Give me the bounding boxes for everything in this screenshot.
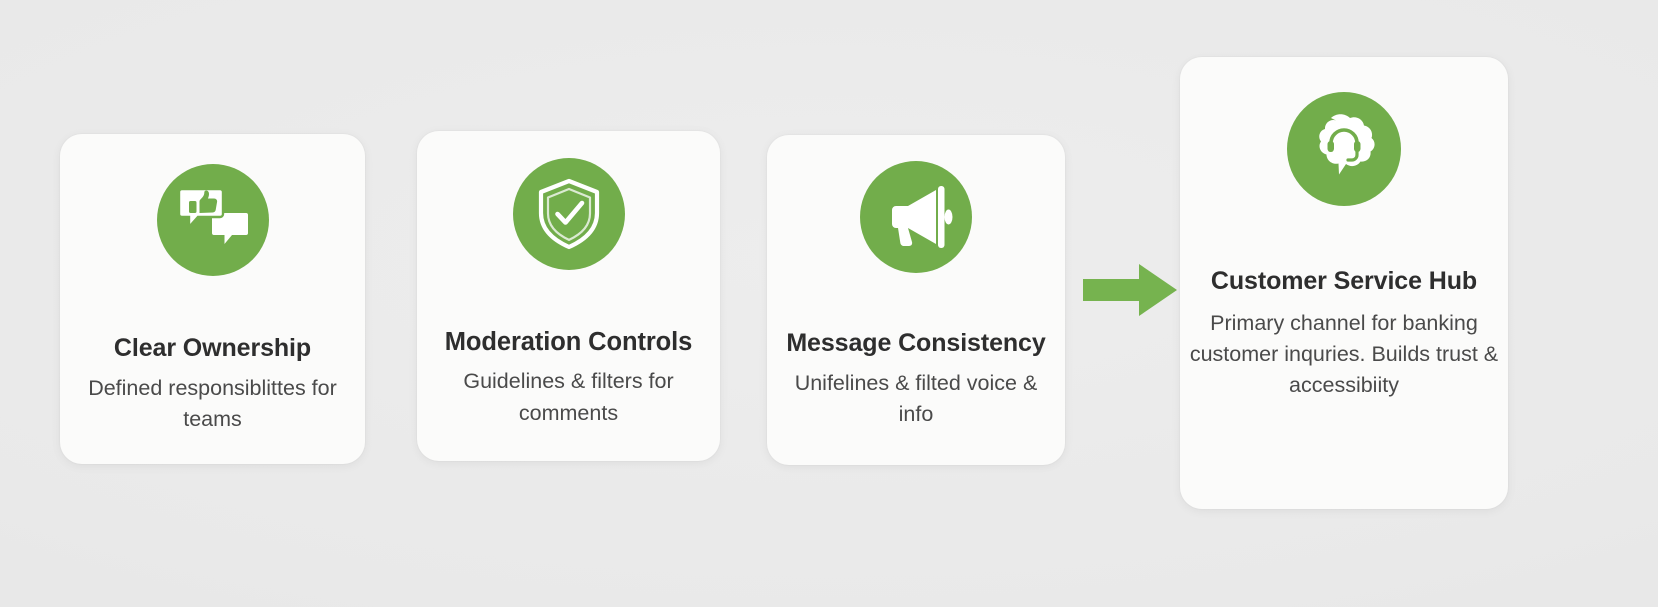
card-description: Defined responsiblittes for teams xyxy=(60,373,365,436)
megaphone-icon xyxy=(860,161,972,273)
card-clear-ownership[interactable]: Clear Ownership Defined responsiblittes … xyxy=(60,134,365,464)
card-title: Customer Service Hub xyxy=(1211,268,1477,296)
flow-diagram: Clear Ownership Defined responsiblittes … xyxy=(0,0,1658,607)
card-description: Guidelines & filters for comments xyxy=(417,366,720,429)
card-title: Moderation Controls xyxy=(445,328,692,356)
card-message-consistency[interactable]: Message Consistency Unifelines & filted … xyxy=(767,135,1065,465)
card-title: Message Consistency xyxy=(786,330,1045,358)
card-customer-service-hub[interactable]: Customer Service Hub Primary channel for… xyxy=(1180,57,1508,509)
headset-chat-cloud-icon xyxy=(1287,92,1401,206)
card-description: Unifelines & filted voice & info xyxy=(767,368,1065,431)
thumbs-up-speech-bubble-icon xyxy=(157,164,269,276)
shield-check-icon xyxy=(513,158,625,270)
arrow-right-icon xyxy=(1083,262,1179,318)
card-moderation-controls[interactable]: Moderation Controls Guidelines & filters… xyxy=(417,131,720,461)
card-title: Clear Ownership xyxy=(114,335,311,363)
card-description: Primary channel for banking customer inq… xyxy=(1180,308,1508,402)
